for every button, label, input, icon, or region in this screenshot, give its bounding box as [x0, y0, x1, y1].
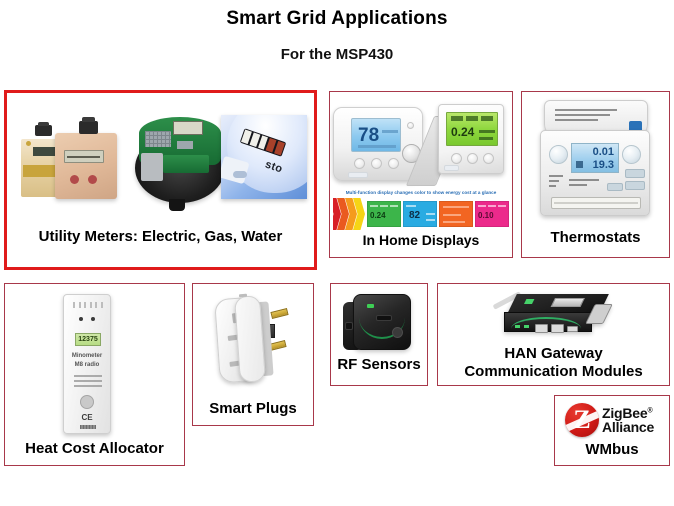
swatch-bar — [426, 213, 435, 215]
swatch-bar — [488, 205, 496, 207]
rf-sensor-button[interactable] — [392, 327, 403, 338]
text-line — [555, 114, 610, 116]
rf-sensor-image — [343, 292, 419, 354]
swatch-pink: 0.10 — [475, 201, 509, 227]
panel-label-smart-plugs: Smart Plugs — [193, 401, 313, 418]
display-2-lcd-block — [479, 137, 493, 140]
thermostat-key-1[interactable] — [625, 169, 645, 178]
gateway-ethernet-port-1 — [535, 324, 548, 333]
zigbee-logo-word-2: Alliance — [602, 420, 654, 434]
thermostat-printed-text — [555, 109, 617, 124]
electric-meter-lower-board — [163, 155, 209, 173]
text-line — [549, 180, 559, 182]
thermostat-side-text — [549, 175, 563, 190]
gateway-top-label — [551, 298, 585, 307]
swatch-bar — [498, 205, 506, 207]
display-1-brand-tag — [348, 172, 368, 178]
thermostat-lcd-top-value: 0.01 — [593, 147, 614, 158]
text-line — [555, 109, 617, 111]
thermostat-dial-left[interactable] — [549, 145, 568, 164]
zigbee-alliance-logo: Z ZigBee® Alliance — [565, 402, 663, 438]
text-line — [74, 375, 102, 377]
rf-sensor-body — [353, 294, 411, 350]
energy-color-note: Multi-function display changes color to … — [330, 190, 512, 195]
display-1-button-3[interactable] — [388, 158, 399, 169]
rf-sensor-port — [345, 322, 353, 330]
panel-label-thermostats: Thermostats — [522, 230, 669, 247]
gas-meter-left-valve-icon — [35, 125, 52, 136]
display-2-lcd: 0.24 — [446, 112, 498, 146]
rf-sensor-label-plate — [376, 315, 392, 321]
zigbee-logo-mark-icon: Z — [565, 403, 599, 437]
panel-label-in-home-displays: In Home Displays — [330, 233, 512, 249]
allocator-vents-icon — [73, 302, 103, 308]
swatch-blue: 82 — [403, 201, 437, 227]
page-subtitle: For the MSP430 — [0, 46, 674, 63]
allocator-led-1 — [79, 317, 83, 321]
electric-meter-lcd — [173, 121, 203, 135]
text-line — [74, 385, 102, 387]
thermostat-lcd-bottom-value: 19.3 — [593, 160, 614, 171]
zigbee-logo-letter: Z — [565, 403, 599, 437]
gateway-front-led-2 — [524, 325, 529, 328]
text-line — [569, 184, 587, 186]
vent-slot — [90, 302, 92, 308]
panel-utility-meters[interactable]: sto Utility Meters: Electric, Gas, Water — [4, 90, 317, 270]
panel-label-han-gateway-line-1: HAN Gateway — [438, 346, 669, 363]
display-2-body: 0.24 — [438, 104, 504, 174]
display-1-value: 78 — [358, 126, 379, 145]
electric-meter-keypad-icon — [145, 131, 171, 147]
panel-wmbus[interactable]: Z ZigBee® Alliance WMbus — [554, 395, 670, 466]
display-2-lcd-block — [479, 130, 495, 133]
display-1-lcd: 78 — [351, 118, 401, 152]
vent-slot — [84, 302, 86, 308]
display-1-button-1[interactable] — [354, 158, 365, 169]
display-2-button-1[interactable] — [451, 153, 462, 164]
gas-meter-right-valve-icon — [79, 121, 98, 134]
han-gateway-image — [496, 290, 620, 344]
thermostat-program-slider[interactable] — [551, 197, 641, 209]
thermostat-key-2[interactable] — [625, 181, 645, 190]
gas-meter-image — [21, 111, 131, 211]
rf-sensor-status-led — [367, 304, 374, 308]
panel-label-han-gateway-line-2: Communication Modules — [438, 364, 669, 381]
swatch-orange — [439, 201, 473, 227]
vent-slot — [95, 302, 97, 308]
text-line — [555, 119, 598, 121]
display-1-body: 78 — [333, 107, 423, 181]
allocator-led-2 — [91, 317, 95, 321]
swatch-bar — [443, 221, 465, 223]
gateway-top-led — [524, 299, 534, 304]
water-meter-image: sto — [221, 115, 307, 199]
gas-meter-button-left[interactable] — [70, 175, 79, 184]
panel-heat-cost-allocator[interactable]: 12375 Minometer M8 radio CE Heat Cost Al… — [4, 283, 185, 466]
text-line — [569, 179, 599, 181]
vent-slot — [73, 302, 75, 308]
heat-cost-allocator-image: 12375 Minometer M8 radio CE — [63, 294, 111, 434]
swatch-chevrons — [333, 198, 365, 230]
allocator-device-model: M8 radio — [64, 362, 110, 368]
plug-top-marking — [239, 294, 247, 298]
electric-meter-image — [129, 107, 233, 215]
text-line — [549, 175, 563, 177]
slide-canvas: Smart Grid Applications For the MSP430 — [0, 0, 674, 506]
text-line — [74, 380, 102, 382]
display-2-button-2[interactable] — [467, 153, 478, 164]
thermostat-key-3[interactable] — [607, 183, 623, 191]
gas-meter-lcd — [64, 150, 104, 163]
vent-slot — [101, 302, 103, 308]
display-2-button-3[interactable] — [483, 153, 494, 164]
display-1-lcd-row — [358, 145, 396, 148]
allocator-spec-text — [74, 375, 102, 390]
plug-pin-top — [270, 308, 288, 319]
swatch-bar — [443, 206, 469, 208]
swatch-green: 0.24 — [367, 201, 401, 227]
panel-rf-sensors[interactable]: RF Sensors — [330, 283, 428, 386]
swatch-pink-value: 0.10 — [478, 212, 494, 220]
allocator-lcd: 12375 — [75, 333, 101, 346]
gas-meter-body — [55, 133, 117, 199]
display-1-sensor-icon — [407, 122, 414, 129]
thermostat-lcd: 0.01 19.3 — [571, 143, 619, 173]
panel-thermostats[interactable]: 0.01 19.3 — [521, 91, 670, 258]
swatch-bar — [370, 205, 378, 207]
panel-label-wmbus: WMbus — [555, 442, 669, 459]
panel-smart-plugs[interactable]: Smart Plugs — [192, 283, 314, 426]
thermostat-dial-right[interactable] — [622, 145, 641, 164]
swatch-blue-value: 82 — [409, 211, 420, 221]
zigbee-registered-mark: ® — [647, 407, 652, 414]
swatch-bar — [426, 219, 435, 221]
gateway-front-led-1 — [515, 325, 520, 328]
panel-label-utility-meters: Utility Meters: Electric, Gas, Water — [7, 229, 314, 246]
water-meter-indicator — [233, 171, 247, 178]
thermostat-image: 0.01 19.3 — [540, 100, 652, 222]
zigbee-logo-word-1: ZigBee® — [602, 406, 654, 420]
panel-label-heat-cost-allocator: Heat Cost Allocator — [5, 441, 184, 458]
thermostat-lcd-icon — [576, 161, 583, 168]
gateway-ethernet-port-2 — [551, 324, 564, 333]
panel-han-gateway[interactable]: HAN Gateway Communication Modules — [437, 283, 670, 386]
display-2-lcd-block — [481, 116, 493, 121]
electric-meter-terminal-block — [141, 153, 163, 181]
smart-plug-image — [209, 290, 305, 398]
gateway-usb-port — [567, 326, 578, 332]
allocator-barcode-icon — [80, 425, 96, 429]
gas-meter-button-right[interactable] — [88, 175, 97, 184]
swatch-green-value: 0.24 — [370, 212, 386, 220]
gas-meter-dot-icon — [26, 141, 31, 146]
vent-slot — [79, 302, 81, 308]
gateway-front-face — [504, 312, 592, 332]
thermostat-label-text — [569, 179, 599, 189]
panel-label-rf-sensors: RF Sensors — [331, 357, 427, 374]
allocator-lcd-value: 12375 — [78, 336, 97, 343]
swatch-bar — [478, 205, 486, 207]
swatch-bar — [380, 205, 388, 207]
allocator-ce-mark: CE — [64, 413, 110, 422]
allocator-seal-icon — [80, 395, 94, 409]
swatch-bar — [406, 205, 416, 207]
swatch-bar — [390, 205, 398, 207]
display-1-button-2[interactable] — [371, 158, 382, 169]
thermostat-body: 0.01 19.3 — [540, 130, 650, 216]
swatch-bar — [443, 214, 461, 216]
display-2-value: 0.24 — [451, 126, 474, 138]
display-2-brand-tag — [444, 165, 459, 171]
text-line — [549, 185, 556, 187]
electric-meter-chip — [177, 141, 193, 149]
in-home-display-2-image: 0.24 — [414, 98, 510, 192]
energy-color-swatch-strip: 0.24 82 0.10 — [333, 198, 511, 230]
zigbee-logo-wordmark: ZigBee® Alliance — [602, 406, 654, 434]
electric-meter-foot — [169, 199, 185, 211]
display-2-lcd-block — [451, 116, 463, 121]
page-title: Smart Grid Applications — [0, 8, 674, 30]
panel-in-home-displays[interactable]: 78 0.24 — [329, 91, 513, 258]
display-1-lcd-row — [382, 130, 398, 133]
display-2-lcd-block — [466, 116, 478, 121]
allocator-device-name: Minometer — [64, 353, 110, 359]
